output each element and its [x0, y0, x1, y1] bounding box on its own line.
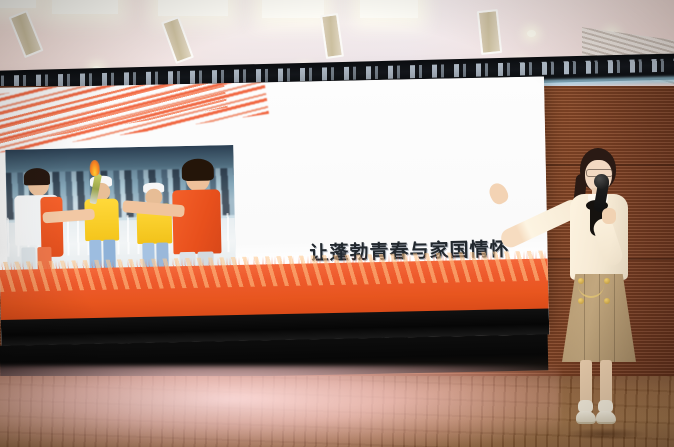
torch-flame-icon: [90, 160, 100, 176]
screenshot-root: 让蓬勃青春与家国情怀 同频共振 在新时代新征程唱响更加 精彩的青春之歌: [0, 0, 674, 447]
stage-spotlight-pool: [0, 366, 560, 447]
ceiling-light-panel: [360, 0, 418, 18]
ceiling-light-panel: [52, 0, 118, 14]
skirt-pleat: [614, 274, 615, 362]
microphone-head-icon: [594, 174, 609, 189]
ceiling-vent: [477, 9, 502, 55]
ceiling-light-panel: [158, 0, 228, 16]
ceiling-light-panel: [262, 0, 324, 18]
speaker-figure: [540, 148, 660, 438]
speaker-shoe: [576, 411, 596, 424]
skirt-button: [578, 298, 584, 304]
photo-hair: [24, 168, 50, 186]
skirt-button: [604, 278, 610, 284]
photo-hair: [182, 158, 214, 181]
speaker-mic-hand: [602, 208, 616, 224]
speaker-shoe: [596, 411, 616, 424]
ceiling-light-panel: [0, 0, 36, 8]
ceiling-downlight: [527, 30, 536, 37]
led-presentation-screen: 让蓬勃青春与家国情怀 同频共振 在新时代新征程唱响更加 精彩的青春之歌: [0, 77, 549, 346]
skirt-button: [604, 298, 610, 304]
photo-orange-shirt: [172, 189, 221, 254]
